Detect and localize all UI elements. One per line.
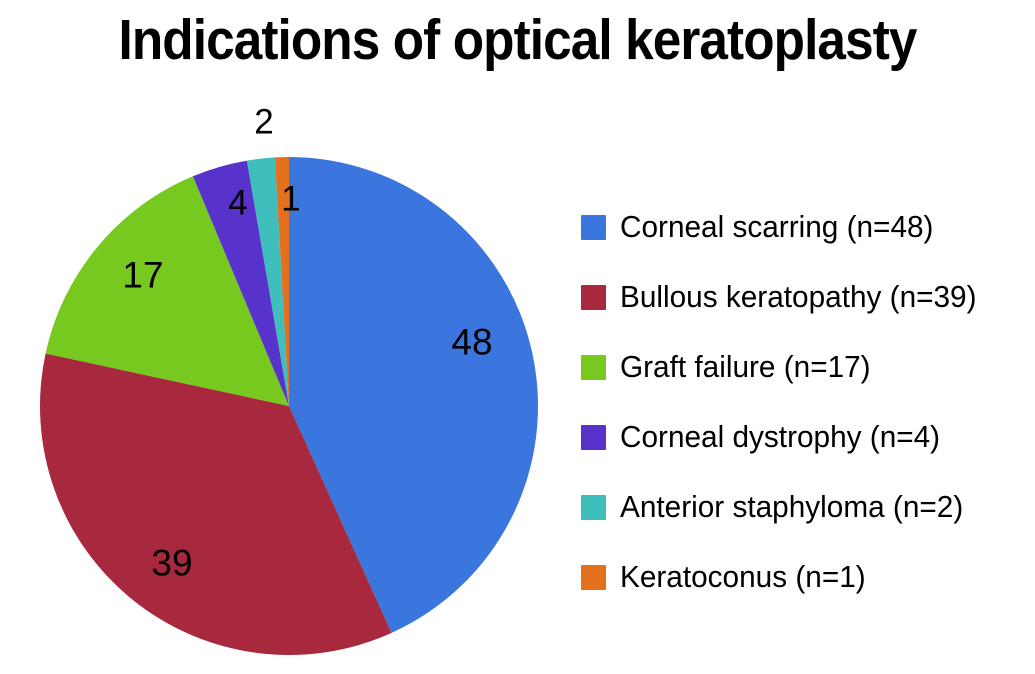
legend-item-label: Anterior staphyloma (n=2) xyxy=(620,490,963,524)
legend-item-anterior-staphyloma[interactable]: Anterior staphyloma (n=2) xyxy=(581,472,1035,542)
legend-item-graft-failure[interactable]: Graft failure (n=17) xyxy=(581,332,1035,402)
pie-plot-area: 483917421 xyxy=(0,0,570,674)
legend-swatch-icon xyxy=(581,495,606,520)
pie-slice-group xyxy=(40,157,538,655)
legend-swatch-icon xyxy=(581,425,606,450)
legend-item-label: Corneal scarring (n=48) xyxy=(620,210,933,244)
legend-swatch-icon xyxy=(581,355,606,380)
legend-item-corneal-scarring[interactable]: Corneal scarring (n=48) xyxy=(581,192,1035,262)
pie-svg xyxy=(0,0,570,674)
legend-item-label: Corneal dystrophy (n=4) xyxy=(620,420,940,454)
legend-item-label: Graft failure (n=17) xyxy=(620,350,871,384)
legend-item-label: Keratoconus (n=1) xyxy=(620,560,866,594)
legend-item-corneal-dystrophy[interactable]: Corneal dystrophy (n=4) xyxy=(581,402,1035,472)
chart-legend: Corneal scarring (n=48)Bullous keratopat… xyxy=(581,192,1035,612)
legend-swatch-icon xyxy=(581,285,606,310)
legend-swatch-icon xyxy=(581,565,606,590)
legend-item-label: Bullous keratopathy (n=39) xyxy=(620,280,977,314)
legend-item-bullous-keratopathy[interactable]: Bullous keratopathy (n=39) xyxy=(581,262,1035,332)
legend-swatch-icon xyxy=(581,215,606,240)
legend-item-keratoconus[interactable]: Keratoconus (n=1) xyxy=(581,542,1035,612)
pie-chart-figure: Indications of optical keratoplasty 4839… xyxy=(0,0,1035,674)
